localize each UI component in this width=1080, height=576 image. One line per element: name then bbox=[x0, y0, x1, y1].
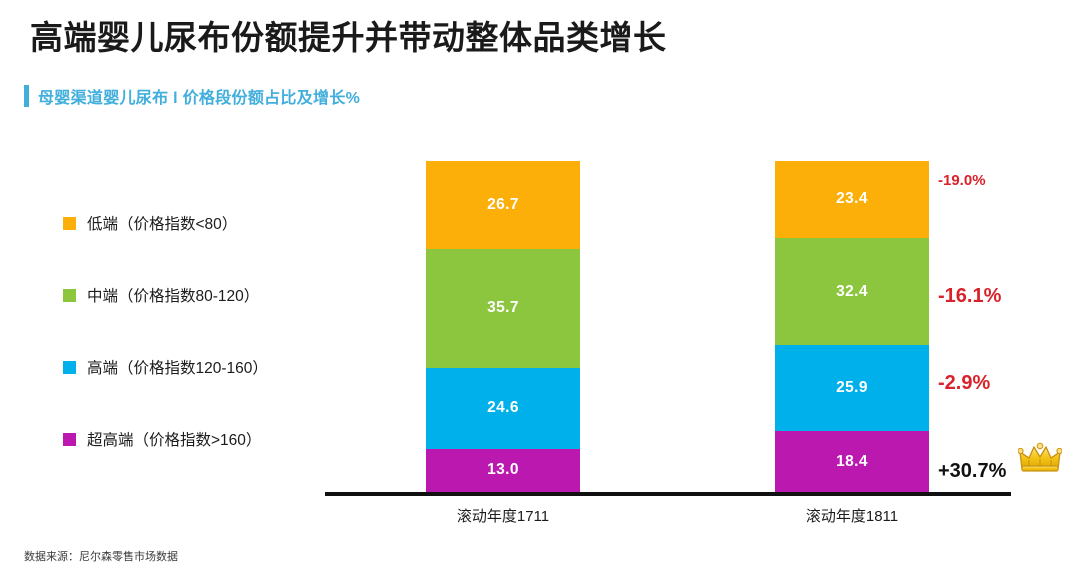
growth-value-high-end: -2.9% bbox=[938, 372, 990, 395]
x-axis-label-1711: 滚动年度1711 bbox=[383, 505, 623, 526]
crown-icon bbox=[1018, 442, 1062, 474]
segment-low-end-1711[interactable]: 26.7 bbox=[426, 161, 580, 249]
segment-mid-end-1811[interactable]: 32.4 bbox=[775, 238, 929, 345]
segment-value-mid-end-1711: 35.7 bbox=[487, 299, 519, 317]
segment-value-super-high-end-1811: 18.4 bbox=[836, 453, 868, 471]
segment-value-low-end-1811: 23.4 bbox=[836, 190, 868, 208]
subtitle-row: 母婴渠道婴儿尿布 l 价格段份额占比及增长% bbox=[24, 84, 360, 108]
segment-value-low-end-1711: 26.7 bbox=[487, 196, 519, 214]
page-title: 高端婴儿尿布份额提升并带动整体品类增长 bbox=[30, 11, 667, 59]
legend-item-super-high-end[interactable]: 超高端（价格指数>160） bbox=[63, 429, 363, 449]
segment-high-end-1811[interactable]: 25.9 bbox=[775, 345, 929, 431]
legend-item-high-end[interactable]: 高端（价格指数120-160） bbox=[63, 357, 363, 377]
chart-subtitle: 母婴渠道婴儿尿布 l 价格段份额占比及增长% bbox=[38, 84, 360, 108]
segment-super-high-end-1711[interactable]: 13.0 bbox=[426, 449, 580, 492]
legend-item-low-end[interactable]: 低端（价格指数<80） bbox=[63, 213, 363, 233]
growth-label-high-end: -2.9% bbox=[938, 372, 990, 395]
legend-swatch-low-end bbox=[63, 217, 76, 230]
chart-legend: 低端（价格指数<80） 中端（价格指数80-120） 高端（价格指数120-16… bbox=[63, 213, 363, 449]
growth-value-super-high-end: +30.7% bbox=[938, 460, 1006, 483]
segment-mid-end-1711[interactable]: 35.7 bbox=[426, 249, 580, 367]
subtitle-accent-bar bbox=[24, 85, 29, 107]
legend-label-super-high-end: 超高端（价格指数>160） bbox=[87, 428, 261, 450]
stacked-bar-1811[interactable]: 23.4 32.4 25.9 18.4 滚动年度1811 bbox=[775, 161, 929, 492]
x-axis-line bbox=[325, 492, 1011, 496]
legend-swatch-super-high-end bbox=[63, 433, 76, 446]
growth-value-mid-end: -16.1% bbox=[938, 285, 1001, 308]
growth-value-low-end: -19.0% bbox=[938, 172, 986, 189]
growth-label-super-high-end: +30.7% bbox=[938, 460, 1006, 483]
segment-value-high-end-1811: 25.9 bbox=[836, 379, 868, 397]
segment-high-end-1711[interactable]: 24.6 bbox=[426, 368, 580, 449]
growth-label-mid-end: -16.1% bbox=[938, 285, 1001, 308]
segment-value-mid-end-1811: 32.4 bbox=[836, 283, 868, 301]
segment-super-high-end-1811[interactable]: 18.4 bbox=[775, 431, 929, 492]
growth-label-low-end: -19.0% bbox=[938, 172, 986, 189]
chart-plot-area: 26.7 35.7 24.6 13.0 滚动年度1711 23.4 32.4 2… bbox=[325, 150, 1011, 500]
legend-swatch-high-end bbox=[63, 361, 76, 374]
stacked-bar-1711[interactable]: 26.7 35.7 24.6 13.0 滚动年度1711 bbox=[426, 161, 580, 492]
segment-value-high-end-1711: 24.6 bbox=[487, 399, 519, 417]
legend-label-low-end: 低端（价格指数<80） bbox=[87, 212, 237, 234]
x-axis-label-1811: 滚动年度1811 bbox=[732, 505, 972, 526]
legend-label-high-end: 高端（价格指数120-160） bbox=[87, 356, 268, 378]
legend-label-mid-end: 中端（价格指数80-120） bbox=[87, 284, 259, 306]
legend-swatch-mid-end bbox=[63, 289, 76, 302]
growth-annotations: -19.0% -16.1% -2.9% +30.7% bbox=[938, 150, 1080, 500]
segment-value-super-high-end-1711: 13.0 bbox=[487, 461, 519, 479]
legend-item-mid-end[interactable]: 中端（价格指数80-120） bbox=[63, 285, 363, 305]
segment-low-end-1811[interactable]: 23.4 bbox=[775, 161, 929, 238]
source-note: 数据来源：尼尔森零售市场数据 bbox=[24, 548, 178, 564]
